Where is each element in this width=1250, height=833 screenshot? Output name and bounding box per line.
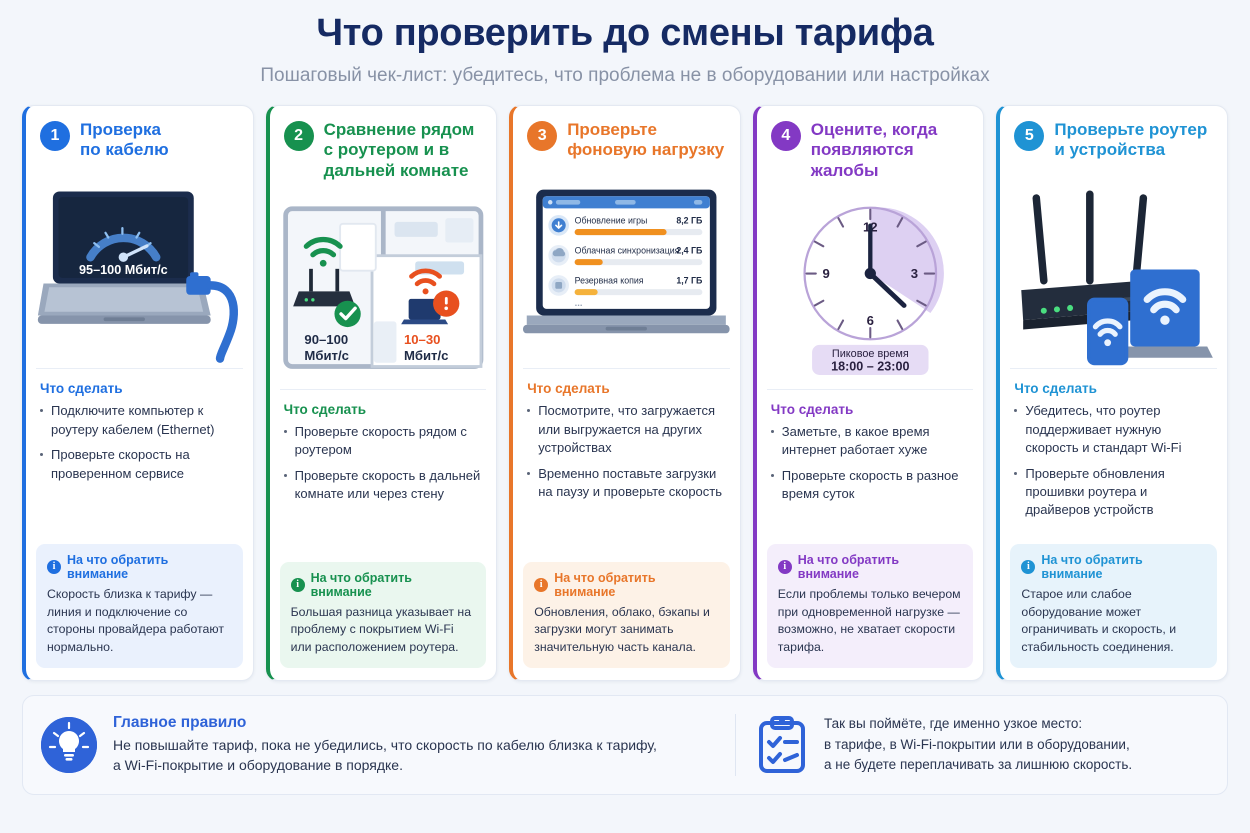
- card-title-line2: и устройства: [1054, 140, 1165, 159]
- card-title: Проверка по кабелю: [80, 120, 169, 161]
- todo-label: Что сделать: [284, 402, 483, 417]
- card-title-line1: Оцените, когда: [811, 120, 937, 139]
- card-title-line1: Проверьте: [567, 120, 657, 139]
- download-progress-bar: [575, 289, 598, 295]
- card-header: 1 Проверка по кабелю: [26, 106, 253, 167]
- illustration-floorplan: 90–100 Мбит/с 10–30 Мби: [280, 190, 487, 390]
- attention-note: i На что обратить внимание Большая разни…: [280, 562, 487, 668]
- step-card-3[interactable]: 3 Проверьте фоновую нагрузку: [509, 105, 741, 681]
- peak-label: Пиковое время: [832, 348, 909, 360]
- todo-item: Заметьте, в какое время интернет работае…: [771, 423, 970, 460]
- note-text: Обновления, облако, бэкапы и загрузки мо…: [534, 604, 719, 657]
- step-card-2[interactable]: 2 Сравнение рядом с роутером и в дальней…: [266, 105, 498, 681]
- peak-value: 18:00 – 23:00: [831, 359, 909, 373]
- todo-list: Заметьте, в какое время интернет работае…: [771, 423, 970, 511]
- todo-label: Что сделать: [771, 402, 970, 417]
- todo-item: Проверьте скорость рядом с роутером: [284, 423, 483, 460]
- clock-tick-9: 9: [822, 266, 829, 281]
- card-title-line2: с роутером и в: [324, 140, 450, 159]
- note-label: На что обратить внимание: [67, 553, 232, 581]
- footer-right-line2: в тарифе, в Wi-Fi-покрытии или в оборудо…: [824, 735, 1132, 755]
- card-header: 4 Оцените, когда появляются жалобы: [757, 106, 984, 188]
- note-header: i На что обратить внимание: [778, 553, 963, 581]
- card-body: Что сделать Посмотрите, что загружается …: [513, 369, 740, 561]
- step-card-1[interactable]: 1 Проверка по кабелю: [22, 105, 254, 681]
- download-progress-bar: [575, 229, 667, 235]
- todo-list: Посмотрите, что загружается или выгружае…: [527, 402, 726, 508]
- step-number-badge: 2: [284, 121, 314, 151]
- lightbulb-icon: [41, 717, 97, 773]
- step-number-badge: 4: [771, 121, 801, 151]
- illustration-router-devices: [1010, 169, 1217, 369]
- info-icon: i: [291, 578, 305, 592]
- card-title: Проверьте фоновую нагрузку: [567, 120, 724, 161]
- illustration-laptop-ethernet: 95–100 Мбит/с: [36, 169, 243, 369]
- todo-item: Проверьте скорость в дальней комнате или…: [284, 467, 483, 504]
- card-header: 3 Проверьте фоновую нагрузку: [513, 106, 740, 167]
- todo-list: Подключите компьютер к роутеру кабелем (…: [40, 402, 239, 490]
- todo-item: Временно поставьте загрузки на паузу и п…: [527, 465, 726, 502]
- download-name: Облачная синхронизация: [575, 246, 680, 256]
- todo-label: Что сделать: [40, 381, 239, 396]
- near-speed-value: 90–100: [304, 332, 348, 347]
- todo-item: Подключите компьютер к роутеру кабелем (…: [40, 402, 239, 439]
- card-title-line2: фоновую нагрузку: [567, 140, 724, 159]
- near-speed-unit: Мбит/с: [304, 348, 348, 363]
- illustration-clock: 12 3 6 9 Пиковое время 18:00 – 23:00: [767, 190, 974, 390]
- todo-list: Проверьте скорость рядом с роутеромПрове…: [284, 423, 483, 511]
- note-header: i На что обратить внимание: [1021, 553, 1206, 581]
- note-text: Большая разница указывает на проблему с …: [291, 604, 476, 657]
- footer-divider: [735, 714, 736, 776]
- card-body: Что сделать Подключите компьютер к роуте…: [26, 369, 253, 544]
- todo-item: Убедитесь, что роутер поддерживает нужну…: [1014, 402, 1213, 457]
- footer-conclusion-text: Так вы поймёте, где именно узкое место: …: [824, 714, 1132, 775]
- step-number-badge: 1: [40, 121, 70, 151]
- card-title-line2: появляются жалобы: [811, 140, 914, 180]
- footer-rule-text-block: Главное правило Не повышайте тариф, пока…: [113, 714, 657, 776]
- card-title-line1: Проверьте роутер: [1054, 120, 1207, 139]
- card-header: 2 Сравнение рядом с роутером и в дальней…: [270, 106, 497, 188]
- card-title: Оцените, когда появляются жалобы: [811, 120, 970, 182]
- download-size: 1,7 ГБ: [677, 276, 704, 286]
- info-icon: i: [778, 560, 792, 574]
- attention-note: i На что обратить внимание Старое или сл…: [1010, 544, 1217, 668]
- todo-item: Проверьте скорость на проверенном сервис…: [40, 446, 239, 483]
- clock-tick-6: 6: [866, 313, 873, 328]
- attention-note: i На что обратить внимание Скорость близ…: [36, 544, 243, 668]
- step-number-badge: 5: [1014, 121, 1044, 151]
- note-label: На что обратить внимание: [311, 571, 476, 599]
- note-header: i На что обратить внимание: [291, 571, 476, 599]
- footer-right-line1: Так вы поймёте, где именно узкое место:: [824, 714, 1132, 734]
- steps-row: 1 Проверка по кабелю: [22, 105, 1228, 681]
- card-title-line2: по кабелю: [80, 140, 169, 159]
- footer-right-line3: а не будете переплачивать за лишнюю скор…: [824, 755, 1132, 775]
- note-text: Старое или слабое оборудование может огр…: [1021, 586, 1206, 657]
- footer-conclusion: Так вы поймёте, где именно узкое место: …: [756, 714, 1132, 775]
- downloads-more: ...: [575, 297, 583, 308]
- card-title: Сравнение рядом с роутером и в дальней к…: [324, 120, 475, 182]
- note-text: Если проблемы только вечером при одновре…: [778, 586, 963, 657]
- todo-list: Убедитесь, что роутер поддерживает нужну…: [1014, 402, 1213, 527]
- clipboard-check-icon: [756, 716, 808, 774]
- download-name: Обновление игры: [575, 216, 648, 226]
- step-number-badge: 3: [527, 121, 557, 151]
- illustration-laptop-downloads: Обновление игры 8,2 ГБ Облачная синхрони…: [523, 169, 730, 369]
- card-body: Что сделать Заметьте, в какое время инте…: [757, 390, 984, 544]
- card-title-line1: Проверка: [80, 120, 161, 139]
- todo-item: Посмотрите, что загружается или выгружае…: [527, 402, 726, 457]
- clock-tick-3: 3: [911, 266, 918, 281]
- note-header: i На что обратить внимание: [534, 571, 719, 599]
- footer-rule-line1: Не повышайте тариф, пока не убедились, ч…: [113, 735, 657, 755]
- download-name: Резервная копия: [575, 276, 644, 286]
- download-progress-bar: [575, 259, 603, 265]
- note-label: На что обратить внимание: [554, 571, 719, 599]
- speed-readout: 95–100 Мбит/с: [79, 263, 168, 277]
- download-size: 2,4 ГБ: [677, 246, 704, 256]
- card-title: Проверьте роутер и устройства: [1054, 120, 1207, 161]
- card-body: Что сделать Убедитесь, что роутер поддер…: [1000, 369, 1227, 544]
- attention-note: i На что обратить внимание Обновления, о…: [523, 562, 730, 668]
- card-title-line1: Сравнение рядом: [324, 120, 475, 139]
- info-icon: i: [47, 560, 61, 574]
- infographic-page: Что проверить до смены тарифа Пошаговый …: [0, 0, 1250, 833]
- far-speed-unit: Мбит/с: [404, 348, 448, 363]
- todo-label: Что сделать: [527, 381, 726, 396]
- note-text: Скорость близка к тарифу — линия и подкл…: [47, 586, 232, 657]
- note-header: i На что обратить внимание: [47, 553, 232, 581]
- attention-note: i На что обратить внимание Если проблемы…: [767, 544, 974, 668]
- note-label: На что обратить внимание: [798, 553, 963, 581]
- footer-rule-title: Главное правило: [113, 714, 657, 732]
- card-header: 5 Проверьте роутер и устройства: [1000, 106, 1227, 167]
- info-icon: i: [534, 578, 548, 592]
- download-size: 8,2 ГБ: [677, 216, 704, 226]
- far-speed-value: 10–30: [404, 332, 441, 347]
- note-label: На что обратить внимание: [1041, 553, 1206, 581]
- card-body: Что сделать Проверьте скорость рядом с р…: [270, 390, 497, 562]
- step-card-5[interactable]: 5 Проверьте роутер и устройства: [996, 105, 1228, 681]
- footer-main-rule: Главное правило Не повышайте тариф, пока…: [41, 714, 731, 776]
- card-title-line3: дальней комнате: [324, 161, 469, 180]
- footer-summary: Главное правило Не повышайте тариф, пока…: [22, 695, 1228, 795]
- page-subtitle: Пошаговый чек-лист: убедитесь, что пробл…: [22, 65, 1228, 87]
- todo-item: Проверьте скорость в разное время суток: [771, 467, 970, 504]
- todo-label: Что сделать: [1014, 381, 1213, 396]
- page-title: Что проверить до смены тарифа: [22, 12, 1228, 56]
- todo-item: Проверьте обновления прошивки роутера и …: [1014, 465, 1213, 520]
- info-icon: i: [1021, 560, 1035, 574]
- page-header: Что проверить до смены тарифа Пошаговый …: [22, 0, 1228, 87]
- footer-rule-line2: а Wi-Fi-покрытие и оборудование в порядк…: [113, 755, 657, 775]
- step-card-4[interactable]: 4 Оцените, когда появляются жалобы: [753, 105, 985, 681]
